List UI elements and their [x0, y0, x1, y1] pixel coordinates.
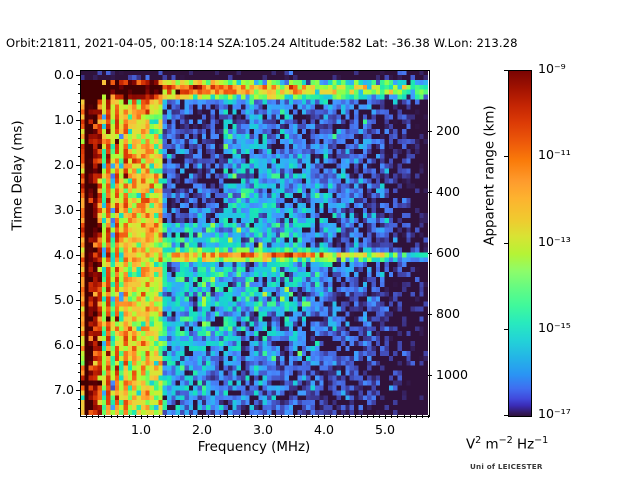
axis-tick-mark: [76, 300, 80, 301]
axis-tick-mark: [288, 415, 289, 418]
axis-tick-mark: [428, 314, 432, 315]
axis-tick-mark: [147, 415, 148, 418]
axis-tick-mark: [428, 415, 429, 418]
axis-tick-mark: [78, 84, 81, 85]
x-axis-tick-label: 3.0: [243, 422, 283, 437]
axis-tick-mark: [306, 415, 307, 418]
axis-tick-mark: [123, 415, 124, 418]
axis-tick-mark: [78, 156, 81, 157]
colorbar-tick-label: 10⁻⁹: [538, 61, 566, 76]
x-axis-tick-label: 2.0: [182, 422, 222, 437]
axis-tick-mark: [76, 165, 80, 166]
axis-tick-mark: [343, 415, 344, 418]
axis-tick-mark: [78, 147, 81, 148]
axis-tick-mark: [78, 381, 81, 382]
y-axis-tick-label: 7.0: [34, 382, 74, 397]
axis-tick-mark: [385, 415, 386, 418]
axis-tick-mark: [76, 345, 80, 346]
axis-tick-mark: [275, 415, 276, 418]
institution-watermark: Uni of LEICESTER: [470, 462, 543, 471]
colorbar-units-label: V2 m−2 Hz−1: [466, 435, 548, 452]
y-axis-tick-label: 4.0: [34, 247, 74, 262]
axis-tick-mark: [78, 327, 81, 328]
axis-tick-mark: [78, 246, 81, 247]
axis-tick-mark: [233, 415, 234, 418]
axis-tick-mark: [86, 415, 87, 418]
y-axis-tick-label: 6.0: [34, 337, 74, 352]
axis-tick-mark: [135, 415, 136, 418]
colorbar-tick-label: 10⁻¹⁵: [538, 320, 571, 335]
ionogram-figure: Orbit:21811, 2021-04-05, 00:18:14 SZA:10…: [0, 0, 640, 480]
axis-tick-mark: [227, 415, 228, 418]
x-axis-tick-label: 1.0: [121, 422, 161, 437]
axis-tick-mark: [269, 415, 270, 418]
axis-tick-mark: [504, 329, 508, 330]
x-axis-tick-label: 4.0: [304, 422, 344, 437]
axis-tick-mark: [245, 415, 246, 418]
y-axis-tick-label: 1.0: [34, 112, 74, 127]
right-axis-tick-label: 1000: [436, 367, 480, 382]
axis-tick-mark: [76, 255, 80, 256]
axis-tick-mark: [428, 192, 432, 193]
axis-tick-mark: [78, 228, 81, 229]
axis-tick-mark: [78, 93, 81, 94]
axis-tick-mark: [391, 415, 392, 418]
axis-tick-mark: [257, 415, 258, 418]
right-axis-tick-label: 800: [436, 306, 480, 321]
axis-tick-mark: [410, 415, 411, 418]
axis-tick-mark: [78, 318, 81, 319]
y-axis-tick-label: 3.0: [34, 202, 74, 217]
axis-tick-mark: [355, 415, 356, 418]
axis-tick-mark: [98, 415, 99, 418]
axis-tick-mark: [239, 415, 240, 418]
axis-tick-mark: [129, 415, 130, 418]
axis-tick-mark: [300, 415, 301, 418]
axis-tick-mark: [361, 415, 362, 418]
axis-tick-mark: [141, 415, 142, 418]
axis-tick-mark: [220, 415, 221, 418]
y-axis-tick-label: 0.0: [34, 67, 74, 82]
axis-tick-mark: [312, 415, 313, 418]
axis-tick-mark: [251, 415, 252, 418]
axis-tick-mark: [428, 253, 432, 254]
axis-tick-mark: [330, 415, 331, 418]
axis-tick-mark: [184, 415, 185, 418]
axis-tick-mark: [349, 415, 350, 418]
axis-tick-mark: [324, 415, 325, 419]
right-axis-label: Apparent range (km): [483, 66, 498, 286]
colorbar-tick-label: 10⁻¹¹: [538, 147, 571, 162]
axis-tick-mark: [76, 75, 80, 76]
axis-tick-mark: [178, 415, 179, 418]
axis-tick-mark: [78, 129, 81, 130]
heatmap-axes: [80, 70, 428, 415]
axis-tick-mark: [422, 415, 423, 418]
axis-tick-mark: [76, 390, 80, 391]
y-axis-label: Time Delay (ms): [11, 66, 26, 286]
axis-tick-mark: [78, 102, 81, 103]
colorbar: [508, 70, 532, 417]
colorbar-tick-label: 10⁻¹⁷: [538, 406, 571, 421]
axis-tick-mark: [117, 415, 118, 418]
axis-tick-mark: [78, 408, 81, 409]
axis-tick-mark: [78, 363, 81, 364]
axis-tick-mark: [78, 282, 81, 283]
axis-tick-mark: [78, 192, 81, 193]
axis-tick-mark: [159, 415, 160, 418]
page-title: Orbit:21811, 2021-04-05, 00:18:14 SZA:10…: [6, 36, 518, 50]
axis-tick-mark: [111, 415, 112, 418]
colorbar-tick-label: 10⁻¹³: [538, 234, 571, 249]
axis-tick-mark: [78, 183, 81, 184]
axis-tick-mark: [504, 243, 508, 244]
y-axis-tick-label: 2.0: [34, 157, 74, 172]
axis-tick-mark: [428, 375, 432, 376]
x-axis-label: Frequency (MHz): [80, 440, 428, 455]
axis-tick-mark: [92, 415, 93, 418]
axis-tick-mark: [336, 415, 337, 418]
axis-tick-mark: [78, 372, 81, 373]
axis-tick-mark: [190, 415, 191, 418]
axis-tick-mark: [78, 201, 81, 202]
axis-tick-mark: [78, 309, 81, 310]
axis-tick-mark: [78, 399, 81, 400]
axis-tick-mark: [208, 415, 209, 418]
axis-tick-mark: [263, 415, 264, 419]
axis-tick-mark: [397, 415, 398, 418]
axis-tick-mark: [428, 131, 432, 132]
axis-tick-mark: [76, 210, 80, 211]
axis-tick-mark: [504, 70, 508, 71]
axis-tick-mark: [504, 156, 508, 157]
axis-tick-mark: [214, 415, 215, 418]
axis-tick-mark: [165, 415, 166, 418]
axis-tick-mark: [416, 415, 417, 418]
axis-tick-mark: [78, 354, 81, 355]
axis-tick-mark: [78, 174, 81, 175]
axis-tick-mark: [104, 415, 105, 418]
axis-tick-mark: [78, 291, 81, 292]
right-axis-tick-label: 200: [436, 123, 480, 138]
axis-tick-mark: [78, 219, 81, 220]
axis-tick-mark: [76, 120, 80, 121]
axis-tick-mark: [373, 415, 374, 418]
axis-tick-mark: [294, 415, 295, 418]
axis-tick-mark: [78, 264, 81, 265]
axis-tick-mark: [318, 415, 319, 418]
axis-tick-mark: [404, 415, 405, 418]
heatmap-image: [80, 70, 428, 415]
axis-tick-mark: [367, 415, 368, 418]
right-axis-tick-label: 600: [436, 245, 480, 260]
axis-tick-mark: [78, 138, 81, 139]
axis-tick-mark: [202, 415, 203, 419]
axis-tick-mark: [153, 415, 154, 418]
axis-tick-mark: [379, 415, 380, 418]
axis-tick-mark: [504, 415, 508, 416]
right-axis-tick-label: 400: [436, 184, 480, 199]
axis-tick-mark: [78, 273, 81, 274]
axis-tick-mark: [172, 415, 173, 418]
x-axis-tick-label: 5.0: [365, 422, 405, 437]
axis-tick-mark: [78, 111, 81, 112]
axis-tick-mark: [78, 336, 81, 337]
y-axis-tick-label: 5.0: [34, 292, 74, 307]
axis-tick-mark: [281, 415, 282, 418]
axis-tick-mark: [78, 237, 81, 238]
axis-tick-mark: [196, 415, 197, 418]
